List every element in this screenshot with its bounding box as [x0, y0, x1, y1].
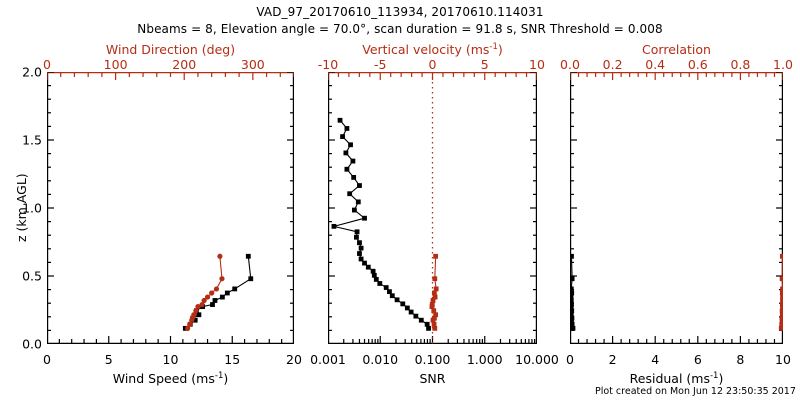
data-point-snr	[357, 240, 362, 245]
vad-plot-figure: VAD_97_20170610_113934, 20170610.114031 …	[0, 0, 800, 400]
data-point-wind-direction	[205, 294, 210, 299]
data-point-snr	[357, 251, 362, 256]
data-point-correlation	[780, 254, 783, 259]
data-point-snr	[338, 118, 343, 123]
data-point-snr	[359, 257, 364, 262]
top-tick-label-vertical-velocity-ms-0: -10	[318, 57, 338, 72]
data-point-snr	[332, 224, 337, 229]
top-tick-label-vertical-velocity-ms-1: -5	[374, 57, 386, 72]
series-line-wind-speed	[185, 256, 250, 328]
top-tick-label-correlation-1: 0.2	[603, 57, 623, 72]
panel-wind-speed-direction	[47, 72, 294, 344]
bottom-tick-label-snr-0: 0.001	[310, 352, 346, 367]
panel-residual-correlation	[570, 72, 783, 344]
data-point-snr	[366, 265, 371, 270]
bottom-tick-label-wind-speed-ms-2: 10	[163, 352, 179, 367]
bottom-tick-label-wind-speed-ms-1: 5	[105, 352, 113, 367]
top-tick-label-vertical-velocity-ms-3: 5	[481, 57, 489, 72]
data-point-snr	[359, 246, 364, 251]
data-point-vertical-velocity	[432, 326, 437, 331]
bottom-tick-label-residual-ms-2: 4	[651, 352, 659, 367]
bottom-tick-label-residual-ms-4: 8	[736, 352, 744, 367]
data-point-snr	[351, 159, 356, 164]
data-point-snr	[348, 142, 353, 147]
data-point-snr	[371, 269, 376, 274]
bottom-axis-label-residual-ms: Residual (ms-1)	[570, 371, 783, 386]
data-point-wind-speed	[220, 295, 225, 300]
bottom-tick-label-wind-speed-ms-4: 20	[286, 352, 302, 367]
top-tick-label-correlation-2: 0.4	[645, 57, 665, 72]
data-point-residual	[570, 254, 574, 259]
bottom-tick-label-snr-4: 10.000	[515, 352, 559, 367]
figure-title-line-2: Nbeams = 8, Elevation angle = 70.0°, sca…	[0, 22, 800, 36]
bottom-tick-label-residual-ms-5: 10	[775, 352, 791, 367]
bottom-tick-label-residual-ms-0: 0	[566, 352, 574, 367]
data-point-wind-direction	[209, 290, 214, 295]
top-axis-label-vertical-velocity-ms: Vertical velocity (ms-1)	[328, 42, 537, 57]
bottom-tick-label-wind-speed-ms-3: 15	[224, 352, 240, 367]
data-point-residual	[570, 287, 574, 292]
bottom-tick-label-snr-1: 0.010	[362, 352, 398, 367]
top-tick-label-vertical-velocity-ms-2: 0	[429, 57, 437, 72]
panel-snr-vertical-velocity	[328, 72, 537, 344]
data-point-snr	[413, 314, 418, 319]
data-point-vertical-velocity	[433, 254, 438, 259]
data-point-wind-direction	[217, 254, 222, 259]
top-tick-label-wind-direction-deg-0: 0	[43, 57, 51, 72]
top-tick-label-vertical-velocity-ms-4: 10	[529, 57, 545, 72]
data-point-wind-speed	[248, 276, 253, 281]
bottom-tick-label-wind-speed-ms-0: 0	[43, 352, 51, 367]
data-point-snr	[425, 322, 430, 327]
data-point-residual	[570, 276, 575, 281]
data-point-snr	[377, 281, 382, 286]
top-tick-label-correlation-0: 0.0	[560, 57, 580, 72]
data-point-snr	[395, 297, 400, 302]
bottom-tick-label-snr-2: 0.100	[415, 352, 451, 367]
bottom-tick-label-snr-3: 1.000	[467, 352, 503, 367]
top-tick-label-correlation-3: 0.6	[688, 57, 708, 72]
top-tick-label-wind-direction-deg-3: 300	[241, 57, 265, 72]
data-point-snr	[384, 285, 389, 290]
y-tick-label-0.0: 0.0	[8, 337, 42, 352]
data-point-snr	[400, 301, 405, 306]
data-point-correlation	[779, 326, 783, 331]
bottom-axis-label-wind-speed-ms: Wind Speed (ms-1)	[47, 371, 294, 386]
data-point-snr	[419, 318, 424, 323]
data-point-vertical-velocity	[434, 287, 439, 292]
data-point-snr	[345, 126, 350, 131]
top-tick-label-wind-direction-deg-1: 100	[104, 57, 128, 72]
y-tick-label-1.0: 1.0	[8, 201, 42, 216]
data-point-snr	[355, 229, 360, 234]
plot-creation-credit: Plot created on Mon Jun 12 23:50:35 2017	[595, 386, 796, 397]
top-tick-label-correlation-4: 0.8	[730, 57, 750, 72]
data-point-snr	[409, 310, 414, 315]
figure-title-line-1: VAD_97_20170610_113934, 20170610.114031	[0, 5, 800, 19]
data-point-snr	[405, 306, 410, 311]
data-point-residual	[571, 326, 576, 331]
data-point-snr	[426, 326, 431, 331]
data-point-snr	[357, 183, 362, 188]
data-point-snr	[347, 191, 352, 196]
data-point-wind-speed	[225, 291, 230, 296]
bottom-axis-label-snr: SNR	[328, 371, 537, 386]
top-axis-label-wind-direction-deg: Wind Direction (deg)	[47, 42, 294, 57]
top-tick-label-correlation-5: 1.0	[773, 57, 793, 72]
y-tick-label-0.5: 0.5	[8, 269, 42, 284]
data-point-snr	[356, 199, 361, 204]
data-point-snr	[352, 208, 357, 213]
data-point-correlation	[780, 276, 783, 281]
bottom-tick-label-residual-ms-1: 2	[609, 352, 617, 367]
data-point-snr	[362, 216, 367, 221]
top-axis-label-correlation: Correlation	[570, 42, 783, 57]
data-point-wind-speed	[246, 254, 251, 259]
data-point-snr	[354, 235, 359, 240]
bottom-tick-label-residual-ms-3: 6	[694, 352, 702, 367]
data-point-snr	[343, 151, 348, 156]
data-point-wind-speed	[213, 298, 218, 303]
data-point-snr	[345, 167, 350, 172]
data-point-snr	[351, 175, 356, 180]
data-point-wind-direction	[219, 276, 224, 281]
data-point-correlation	[780, 287, 783, 292]
top-tick-label-wind-direction-deg-2: 200	[172, 57, 196, 72]
data-point-wind-speed	[232, 287, 237, 292]
data-point-wind-direction	[214, 286, 219, 291]
data-point-snr	[340, 134, 345, 139]
y-tick-label-2.0: 2.0	[8, 65, 42, 80]
y-tick-label-1.5: 1.5	[8, 133, 42, 148]
data-point-vertical-velocity	[432, 276, 437, 281]
